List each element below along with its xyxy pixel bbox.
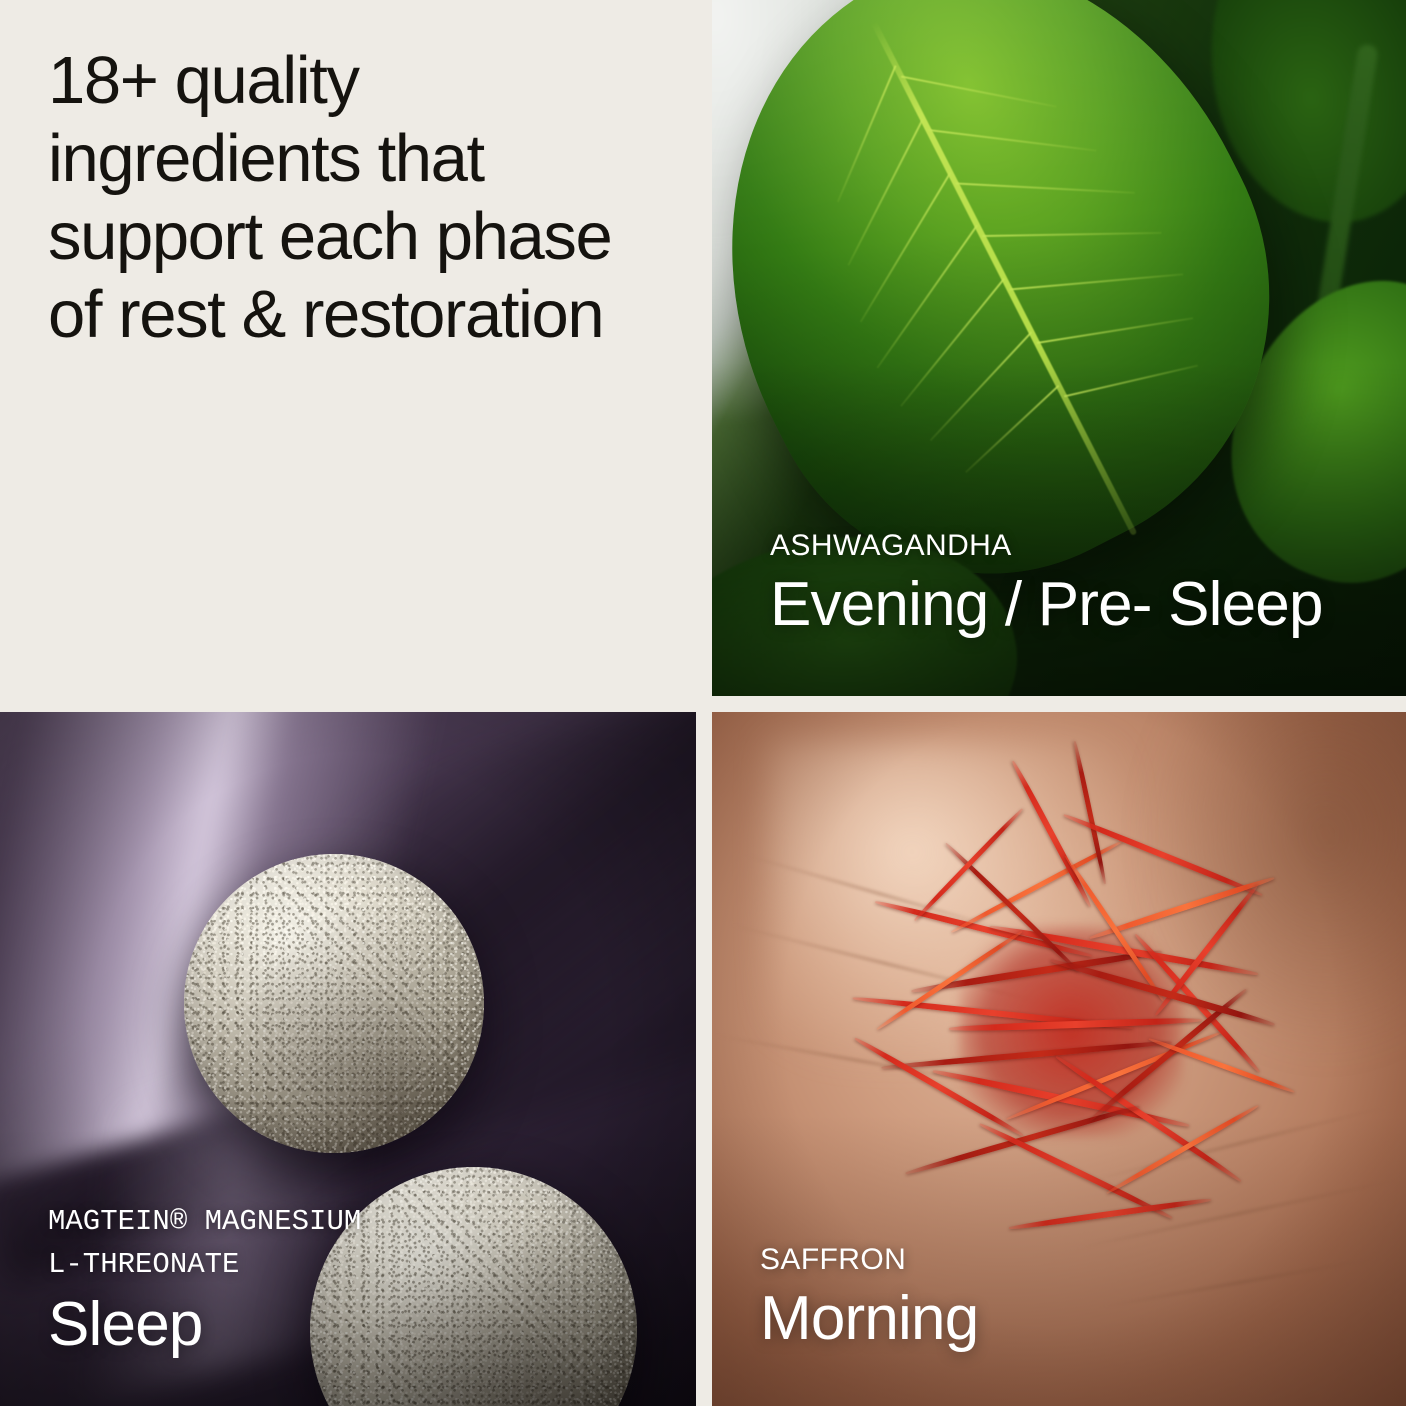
page-title: 18+ quality ingredients that support eac… — [48, 42, 648, 354]
ingredient-name-label: SAFFRON — [760, 1240, 978, 1280]
saffron-panel[interactable]: SAFFRON Morning — [712, 712, 1406, 1406]
phase-label: Morning — [760, 1284, 978, 1354]
ashwagandha-caption: ASHWAGANDHA Evening / Pre- Sleep — [770, 526, 1323, 640]
ingredient-name-label: MAGTEIN® MAGNESIUM L-THREONATE — [48, 1200, 361, 1286]
phase-label: Evening / Pre- Sleep — [770, 570, 1323, 640]
magtein-caption: MAGTEIN® MAGNESIUM L-THREONATE Sleep — [48, 1200, 361, 1360]
ingredient-phase-grid: 18+ quality ingredients that support eac… — [0, 0, 1406, 1406]
ingredient-name-label: ASHWAGANDHA — [770, 526, 1323, 566]
magtein-panel[interactable]: MAGTEIN® MAGNESIUM L-THREONATE Sleep — [0, 712, 696, 1406]
phase-label: Sleep — [48, 1290, 361, 1360]
headline-panel: 18+ quality ingredients that support eac… — [0, 0, 696, 696]
saffron-caption: SAFFRON Morning — [760, 1240, 978, 1354]
ashwagandha-panel[interactable]: ASHWAGANDHA Evening / Pre- Sleep — [712, 0, 1406, 696]
